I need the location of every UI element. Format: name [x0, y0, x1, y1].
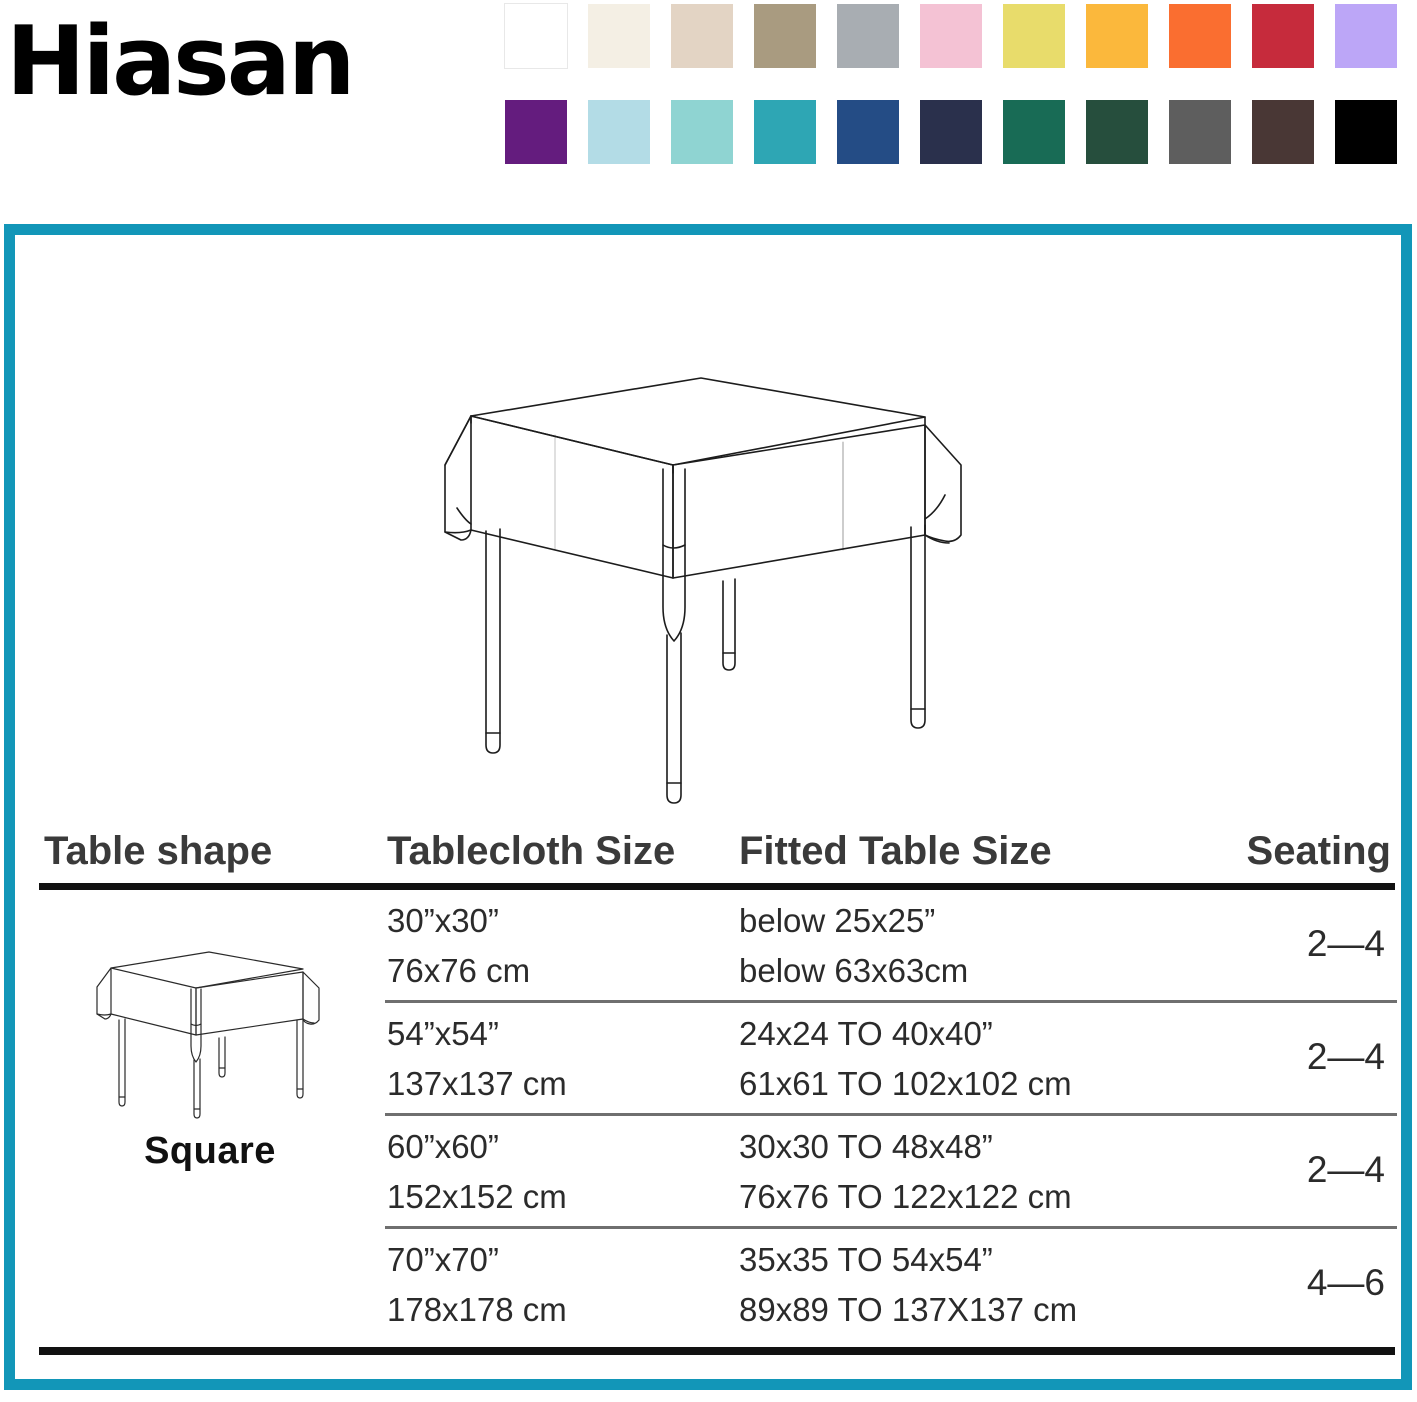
color-swatch-red[interactable] — [1252, 4, 1314, 68]
column-header-table-shape: Table shape — [44, 829, 272, 873]
cell-fitted-table-size: 30x30 TO 48x48”76x76 TO 122x122 cm — [739, 1122, 1209, 1222]
cell-seating: 2—4 — [1307, 1003, 1385, 1110]
color-swatch-orange[interactable] — [1169, 4, 1231, 68]
footer-divider — [39, 1347, 1395, 1355]
header-divider — [39, 883, 1395, 890]
cell-fitted-table-size: 24x24 TO 40x40”61x61 TO 102x102 cm — [739, 1009, 1209, 1109]
color-swatch-charcoal-grey[interactable] — [1169, 100, 1231, 164]
fitted-table-size-inches: 30x30 TO 48x48” — [739, 1122, 1209, 1172]
seating-value: 2—4 — [1307, 923, 1385, 965]
color-swatch-dark-brown[interactable] — [1252, 100, 1314, 164]
color-swatch-ivory[interactable] — [588, 4, 650, 68]
column-header-seating: Seating — [1247, 829, 1391, 873]
tablecloth-size-inches: 30”x30” — [387, 896, 737, 946]
seating-value: 4—6 — [1307, 1262, 1385, 1304]
color-swatch-lavender[interactable] — [1335, 4, 1397, 68]
seating-value: 2—4 — [1307, 1149, 1385, 1191]
fitted-table-size-inches: 35x35 TO 54x54” — [739, 1235, 1209, 1285]
color-swatch-gold[interactable] — [1086, 4, 1148, 68]
fitted-table-size-inches: below 25x25” — [739, 896, 1209, 946]
square-table-illustration-icon — [405, 345, 1005, 805]
table-shape-cell: Square — [49, 942, 371, 1173]
color-swatch-grey[interactable] — [837, 4, 899, 68]
table-row: 30”x30”76x76 cmbelow 25x25”below 63x63cm… — [385, 890, 1397, 1003]
seating-value: 2—4 — [1307, 1036, 1385, 1078]
cell-tablecloth-size: 60”x60”152x152 cm — [387, 1122, 737, 1222]
cell-seating: 4—6 — [1307, 1229, 1385, 1336]
cell-tablecloth-size: 54”x54”137x137 cm — [387, 1009, 737, 1109]
color-swatch-navy-blue[interactable] — [837, 100, 899, 164]
fitted-table-size-cm: 89x89 TO 137X137 cm — [739, 1285, 1209, 1335]
size-rows-container: 30”x30”76x76 cmbelow 25x25”below 63x63cm… — [385, 890, 1397, 1339]
tablecloth-size-cm: 76x76 cm — [387, 946, 737, 996]
cell-fitted-table-size: 35x35 TO 54x54”89x89 TO 137X137 cm — [739, 1235, 1209, 1335]
top-band: Hiasan — [0, 0, 1417, 195]
table-row: 54”x54”137x137 cm24x24 TO 40x40”61x61 TO… — [385, 1003, 1397, 1116]
cell-tablecloth-size: 30”x30”76x76 cm — [387, 896, 737, 996]
color-swatch-aqua[interactable] — [671, 100, 733, 164]
color-swatch-grid — [505, 4, 1417, 196]
tablecloth-size-inches: 60”x60” — [387, 1122, 737, 1172]
tablecloth-size-cm: 178x178 cm — [387, 1285, 737, 1335]
fitted-table-size-cm: below 63x63cm — [739, 946, 1209, 996]
table-body: Square 30”x30”76x76 cmbelow 25x25”below … — [29, 890, 1397, 1339]
column-header-fitted-table-size: Fitted Table Size — [739, 829, 1052, 873]
cell-seating: 2—4 — [1307, 1116, 1385, 1223]
cell-tablecloth-size: 70”x70”178x178 cm — [387, 1235, 737, 1335]
color-swatch-light-blue[interactable] — [588, 100, 650, 164]
color-swatch-yellow[interactable] — [1003, 4, 1065, 68]
color-swatch-dark-navy[interactable] — [920, 100, 982, 164]
fitted-table-size-cm: 61x61 TO 102x102 cm — [739, 1059, 1209, 1109]
size-table: Table shape Tablecloth Size Fitted Table… — [29, 813, 1397, 1355]
fitted-table-size-cm: 76x76 TO 122x122 cm — [739, 1172, 1209, 1222]
brand-logo: Hiasan — [6, 8, 352, 116]
color-swatch-teal[interactable] — [754, 100, 816, 164]
color-swatch-row-2 — [505, 100, 1417, 164]
color-swatch-beige[interactable] — [671, 4, 733, 68]
color-swatch-row-1 — [505, 4, 1417, 68]
cell-seating: 2—4 — [1307, 890, 1385, 997]
table-header-row: Table shape Tablecloth Size Fitted Table… — [29, 813, 1397, 873]
table-shape-label: Square — [49, 1130, 371, 1173]
color-swatch-taupe[interactable] — [754, 4, 816, 68]
fitted-table-size-inches: 24x24 TO 40x40” — [739, 1009, 1209, 1059]
tablecloth-size-inches: 54”x54” — [387, 1009, 737, 1059]
square-table-thumbnail-icon — [81, 942, 339, 1120]
table-row: 60”x60”152x152 cm30x30 TO 48x48”76x76 TO… — [385, 1116, 1397, 1229]
tablecloth-size-cm: 152x152 cm — [387, 1172, 737, 1222]
cell-fitted-table-size: below 25x25”below 63x63cm — [739, 896, 1209, 996]
color-swatch-black[interactable] — [1335, 100, 1397, 164]
color-swatch-purple[interactable] — [505, 100, 567, 164]
info-panel: Table shape Tablecloth Size Fitted Table… — [4, 224, 1412, 1390]
tablecloth-size-cm: 137x137 cm — [387, 1059, 737, 1109]
color-swatch-emerald[interactable] — [1003, 100, 1065, 164]
tablecloth-size-inches: 70”x70” — [387, 1235, 737, 1285]
color-swatch-pink[interactable] — [920, 4, 982, 68]
column-header-tablecloth-size: Tablecloth Size — [387, 829, 675, 873]
color-swatch-forest-green[interactable] — [1086, 100, 1148, 164]
color-swatch-white[interactable] — [505, 4, 567, 68]
table-row: 70”x70”178x178 cm35x35 TO 54x54”89x89 TO… — [385, 1229, 1397, 1339]
